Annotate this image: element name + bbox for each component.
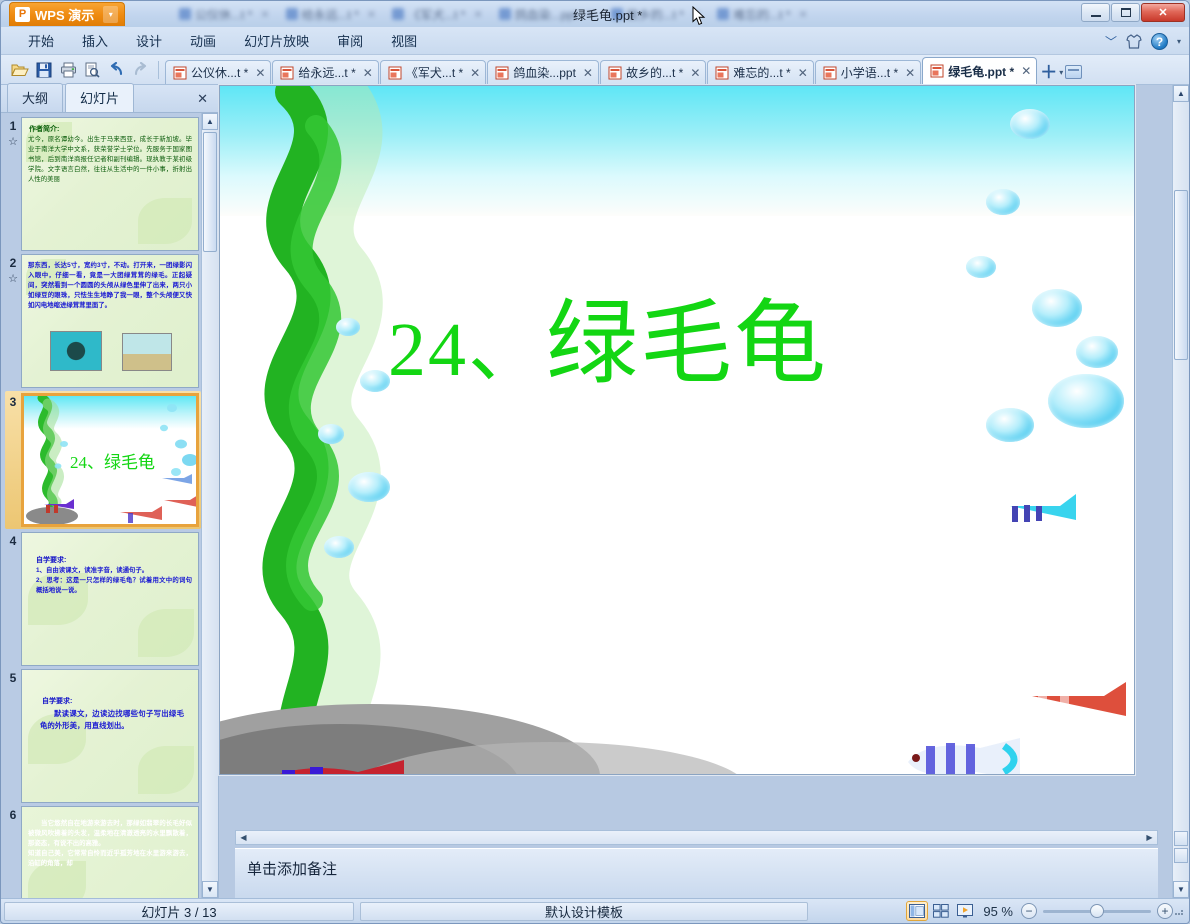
thumbnail-scrollbar[interactable]: ▲ ▼ xyxy=(201,113,218,898)
save-icon[interactable] xyxy=(33,59,55,81)
menu-item-insert[interactable]: 插入 xyxy=(69,27,121,54)
thumb-title: 24、绿毛龟 xyxy=(70,448,155,473)
ppt-file-icon xyxy=(173,66,187,80)
thumb-body: 1、自由读课文，读准字音，读通句子。 2、思考：这是一只怎样的绿毛龟？试着用文中… xyxy=(36,566,192,596)
fish-artwork xyxy=(220,86,1135,775)
thumb-body: 尤今，原名谭幼今。出生于马来西亚，成长于新加坡。毕业于南洋大学中文系，获荣誉学士… xyxy=(28,135,192,185)
thumb-title: 自学要求: xyxy=(36,555,66,565)
next-slide-button[interactable] xyxy=(1174,848,1188,863)
current-slide-canvas[interactable]: 24、绿毛龟 xyxy=(219,85,1135,775)
horizontal-scrollbar[interactable]: ◀ ▶ xyxy=(235,830,1158,845)
new-tab-caret-icon[interactable]: ▾ xyxy=(1059,68,1063,77)
close-icon[interactable]: ✕ xyxy=(1021,64,1031,78)
slide-thumbnail-1[interactable]: 1 ☆ 作者简介: 尤今，原名谭幼今。出生于马来西亚，成长于新加坡。毕业于南洋大… xyxy=(5,117,201,251)
zoom-slider-handle[interactable] xyxy=(1090,904,1104,918)
window-list-icon[interactable] xyxy=(1065,65,1082,79)
slide-number: 6 xyxy=(5,806,21,822)
new-tab-button[interactable]: ＋ xyxy=(1040,64,1057,81)
redo-icon[interactable] xyxy=(129,59,151,81)
menu-item-animation[interactable]: 动画 xyxy=(177,27,229,54)
pane-tab-strip: 大纲 幻灯片 ✕ xyxy=(1,85,218,112)
slide-thumbnail-5[interactable]: 5 自学要求: 默读课文，边读边找哪些句子写出绿毛龟的外形美，用直线划出。 xyxy=(5,669,201,803)
slide-thumbnail-image: 作者简介: 尤今，原名谭幼今。出生于马来西亚，成长于新加坡。毕业于南洋大学中文系… xyxy=(21,117,199,251)
scrollbar-thumb[interactable] xyxy=(1174,190,1188,360)
slide-sorter-icon[interactable] xyxy=(930,901,952,921)
quick-access-toolbar-row: 公仪休...t * ✕ 给永远...t * ✕ 《军犬...t * ✕ xyxy=(1,55,1189,85)
document-tab-label: 绿毛龟.ppt * xyxy=(948,63,1014,80)
pane-close-icon[interactable]: ✕ xyxy=(197,91,208,107)
zoom-in-button[interactable]: + xyxy=(1157,903,1173,919)
plus-icon: + xyxy=(1161,905,1168,917)
wps-brand-label: WPS 演示 xyxy=(35,5,94,24)
undo-icon[interactable] xyxy=(105,59,127,81)
toolbar-separator xyxy=(158,61,159,79)
ghost-tab: 《军犬...t * ✕ xyxy=(386,4,489,24)
previous-slide-button[interactable] xyxy=(1174,831,1188,846)
aquarium-thumb-art: 24、绿毛龟 xyxy=(24,396,196,524)
menu-bar: 开始 插入 设计 动画 幻灯片放映 审阅 视图 ﹀ ? ▾ xyxy=(1,27,1189,55)
scroll-left-icon[interactable]: ◀ xyxy=(236,831,251,844)
ppt-file-icon xyxy=(930,64,944,78)
editor-vertical-scrollbar[interactable]: ▲ ▼ xyxy=(1172,85,1189,898)
close-icon[interactable]: ✕ xyxy=(470,66,480,80)
scroll-down-icon[interactable]: ▼ xyxy=(1173,881,1189,898)
open-icon[interactable] xyxy=(9,59,31,81)
close-icon: ✕ xyxy=(1142,4,1184,21)
document-tab-0[interactable]: 公仪休...t * ✕ xyxy=(165,60,271,84)
tab-slides[interactable]: 幻灯片 xyxy=(65,83,134,112)
slide-number: 1 xyxy=(5,117,21,133)
document-tab-label: 公仪休...t * xyxy=(191,64,248,81)
thumb-title: 作者简介: xyxy=(29,124,59,134)
slide-thumbnail-image: 自学要求: 1、自由读课文，读准字音，读通句子。 2、思考：这是一只怎样的绿毛龟… xyxy=(21,532,199,666)
slide-thumbnail-image: 当它悠然自在地游来游去时，那绿如翡翠的长毛好似被微风吹拂着的头发，温柔地在清澈透… xyxy=(21,806,199,898)
wps-app-badge[interactable]: P WPS 演示 ▾ xyxy=(9,2,125,26)
document-tab-label: 难忘的...t * xyxy=(733,64,790,81)
close-icon[interactable]: ✕ xyxy=(363,66,373,80)
close-icon: ✕ xyxy=(799,8,808,21)
document-tab-5[interactable]: 难忘的...t * ✕ xyxy=(707,60,813,84)
ghost-tab: 公仪休...t * ✕ xyxy=(173,4,276,24)
slide-thumbnail-list: 1 ☆ 作者简介: 尤今，原名谭幼今。出生于马来西亚，成长于新加坡。毕业于南洋大… xyxy=(1,113,201,898)
ppt-file-icon xyxy=(392,8,404,20)
zoom-out-button[interactable]: − xyxy=(1021,903,1037,919)
ppt-file-icon xyxy=(608,66,622,80)
close-icon[interactable]: ✕ xyxy=(255,66,265,80)
slide-number: 2 xyxy=(5,254,21,270)
minus-icon: − xyxy=(1025,905,1032,917)
slide-title-text[interactable]: 24、绿毛龟 xyxy=(388,298,1028,390)
wps-logo-icon: P xyxy=(15,7,30,22)
document-tab-1[interactable]: 给永远...t * ✕ xyxy=(272,60,378,84)
help-icon[interactable]: ? xyxy=(1151,33,1168,50)
wps-presentation-window: P WPS 演示 ▾ 公仪休...t * ✕ 给永远...t * ✕ 《军犬..… xyxy=(0,0,1190,924)
ppt-file-icon xyxy=(823,66,837,80)
menu-item-slideshow[interactable]: 幻灯片放映 xyxy=(231,27,322,54)
thumb-body: 默读课文，边读边找哪些句子写出绿毛龟的外形美，用直线划出。 xyxy=(40,708,184,732)
tab-outline[interactable]: 大纲 xyxy=(7,83,63,112)
close-icon[interactable]: ✕ xyxy=(905,66,915,80)
animation-star-icon: ☆ xyxy=(5,135,21,148)
ghost-tab-label: 鸽血染...ppt xyxy=(515,6,578,23)
ppt-file-icon xyxy=(717,8,729,20)
thumb-picture-2 xyxy=(122,333,172,371)
skin-icon[interactable] xyxy=(1126,34,1142,49)
thumb-title: 自学要求: xyxy=(42,696,72,706)
document-tab-label: 给永远...t * xyxy=(298,64,355,81)
document-tab-label: 故乡的...t * xyxy=(626,64,683,81)
print-icon[interactable] xyxy=(57,59,79,81)
scroll-up-icon[interactable]: ▲ xyxy=(1173,85,1189,102)
title-bar-document-name: 绿毛龟.ppt * xyxy=(573,5,642,24)
print-preview-icon[interactable] xyxy=(81,59,103,81)
slide-number: 4 xyxy=(5,532,21,548)
ghost-tab-label: 给永远...t * xyxy=(302,6,359,23)
slide-editor-pane: 24、绿毛龟 ◀ ▶ 单击添加备注 xyxy=(219,85,1172,898)
close-icon: ✕ xyxy=(260,8,269,21)
slide-thumbnail-image: 24、绿毛龟 xyxy=(21,393,199,527)
close-icon[interactable]: ✕ xyxy=(690,66,700,80)
slide-thumbnail-panel: 1 ☆ 作者简介: 尤今，原名谭幼今。出生于马来西亚，成长于新加坡。毕业于南洋大… xyxy=(1,112,218,898)
chevron-down-icon[interactable]: ﹀ xyxy=(1105,33,1117,50)
menu-item-view[interactable]: 视图 xyxy=(378,27,430,54)
mouse-cursor xyxy=(692,6,706,26)
slide-thumbnail-3[interactable]: 3 xyxy=(5,391,201,529)
document-tab-label: 鸽血染...ppt xyxy=(513,64,576,81)
slide-thumbnail-2[interactable]: 2 ☆ 那东西，长达5寸，宽约3寸，不动。打开来，一团绿影闪入眼中，仔细一看，竟… xyxy=(5,254,201,388)
ghost-tab: 给永远...t * ✕ xyxy=(280,4,383,24)
close-icon[interactable]: ✕ xyxy=(798,66,808,80)
menu-bar-right-tools: ﹀ ? ▾ xyxy=(1105,27,1181,55)
slide-thumbnail-image: 自学要求: 默读课文，边读边找哪些句子写出绿毛龟的外形美，用直线划出。 xyxy=(21,669,199,803)
scroll-right-icon[interactable]: ▶ xyxy=(1142,831,1157,844)
thumb-body: 当它悠然自在地游来游去时，那绿如翡翠的长毛好似被微风吹拂着的头发，温柔地在清澈透… xyxy=(28,819,192,869)
slideshow-icon[interactable] xyxy=(954,901,976,921)
close-icon: ✕ xyxy=(367,8,376,21)
close-icon[interactable]: ✕ xyxy=(583,66,593,80)
document-tab-label: 小学语...t * xyxy=(841,64,898,81)
document-tab-2[interactable]: 《军犬...t * ✕ xyxy=(380,60,486,84)
main-body: 大纲 幻灯片 ✕ 1 ☆ 作者简介: xyxy=(1,85,1189,898)
menu-item-review[interactable]: 审阅 xyxy=(324,27,376,54)
zoom-level-label: 95 % xyxy=(983,904,1013,919)
dropdown-caret-icon[interactable]: ▾ xyxy=(1177,37,1181,46)
normal-view-icon[interactable] xyxy=(906,901,928,921)
document-tab-bar: 公仪休...t * ✕ 给永远...t * ✕ 《军犬...t * ✕ xyxy=(165,54,1084,84)
resize-grip-icon[interactable] xyxy=(1173,905,1185,917)
window-controls: ✕ xyxy=(1081,3,1185,22)
tab-add-group: ＋ ▾ xyxy=(1038,60,1084,84)
zoom-slider[interactable] xyxy=(1043,910,1151,913)
title-bar: P WPS 演示 ▾ 公仪休...t * ✕ 给永远...t * ✕ 《军犬..… xyxy=(1,1,1189,27)
app-menu-caret-icon[interactable]: ▾ xyxy=(103,6,118,23)
ppt-file-icon xyxy=(286,8,298,20)
slide-stage: 24、绿毛龟 xyxy=(219,85,1172,826)
ppt-file-icon xyxy=(179,8,191,20)
notes-placeholder[interactable]: 单击添加备注 xyxy=(235,848,1158,898)
scrollbar-thumb[interactable] xyxy=(203,132,217,252)
slide-thumbnail-image: 那东西，长达5寸，宽约3寸，不动。打开来，一团绿影闪入眼中，仔细一看，竟是一大团… xyxy=(21,254,199,388)
slide-thumbnail-6[interactable]: 6 当它悠然自在地游来游去时，那绿如翡翠的长毛好似被微风吹拂着的头发，温柔地在清… xyxy=(5,806,201,898)
ppt-file-icon xyxy=(715,66,729,80)
thumb-body: 那东西，长达5寸，宽约3寸，不动。打开来，一团绿影闪入眼中，仔细一看，竟是一大团… xyxy=(28,261,192,311)
document-tab-label: 《军犬...t * xyxy=(406,64,463,81)
slide-thumbnail-4[interactable]: 4 自学要求: 1、自由读课文，读准字音，读通句子。 2、思考：这是一只怎样的绿… xyxy=(5,532,201,666)
ppt-file-icon xyxy=(495,66,509,80)
document-tab-active[interactable]: 绿毛龟.ppt * ✕ xyxy=(922,57,1037,84)
slide-number: 5 xyxy=(5,669,21,685)
ghost-tab-label: 难忘的...t * xyxy=(733,6,790,23)
close-icon: ✕ xyxy=(473,8,482,21)
design-template-name: 默认设计模板 xyxy=(360,902,808,921)
slide-number: 3 xyxy=(5,393,21,409)
menu-item-start[interactable]: 开始 xyxy=(15,27,67,54)
thumb-picture-1 xyxy=(50,331,102,371)
close-button[interactable]: ✕ xyxy=(1141,3,1185,22)
animation-star-icon: ☆ xyxy=(5,272,21,285)
document-tab-6[interactable]: 小学语...t * ✕ xyxy=(815,60,921,84)
slides-outline-pane: 大纲 幻灯片 ✕ 1 ☆ 作者简介: xyxy=(1,85,219,898)
ppt-file-icon xyxy=(499,8,511,20)
minimize-button[interactable] xyxy=(1081,3,1110,22)
slide-counter: 幻灯片 3 / 13 xyxy=(4,902,354,921)
status-bar: 幻灯片 3 / 13 默认设计模板 95 % xyxy=(1,898,1189,923)
document-tab-3[interactable]: 鸽血染...ppt ✕ xyxy=(487,60,599,84)
scroll-down-icon[interactable]: ▼ xyxy=(202,881,218,898)
ghost-tab-label: 《军犬...t * xyxy=(408,6,465,23)
ghost-tab-label: 公仪休...t * xyxy=(195,6,252,23)
maximize-button[interactable] xyxy=(1111,3,1140,22)
ppt-file-icon xyxy=(280,66,294,80)
menu-item-design[interactable]: 设计 xyxy=(123,27,175,54)
slide-title-number: 24、 xyxy=(388,308,546,392)
ppt-file-icon xyxy=(388,66,402,80)
scroll-up-icon[interactable]: ▲ xyxy=(202,113,218,130)
slide-title-main: 绿毛龟 xyxy=(546,293,828,395)
ghost-tab: 难忘的...t * ✕ xyxy=(711,4,814,24)
document-tab-4[interactable]: 故乡的...t * ✕ xyxy=(600,60,706,84)
